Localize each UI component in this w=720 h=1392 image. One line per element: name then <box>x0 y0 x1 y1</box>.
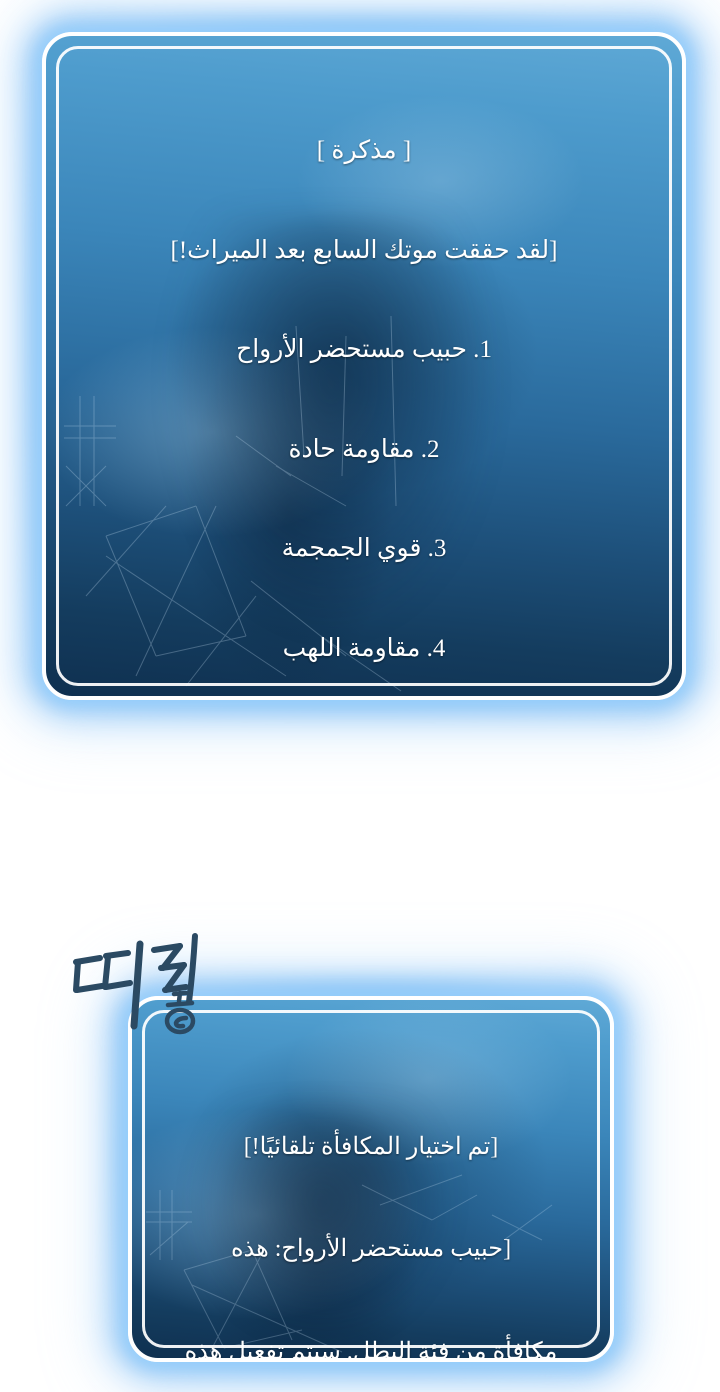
panel2-body-line-2: مكافأة من فئة البطل. سيتم تفعيل هذه <box>158 1335 584 1362</box>
panel1-list-item-3: 3. قوي الجمجمة <box>80 533 648 566</box>
status-notification-panel[interactable]: [ مذكرة ] [لقد حققت موتك السابع بعد المي… <box>42 32 686 700</box>
panel2-body-line-1: [حبيب مستحضر الأرواح: هذه <box>158 1232 584 1266</box>
panel1-list-item-1: 1. حبيب مستحضر الأرواح <box>80 334 648 367</box>
panel1-heading: [ مذكرة ] <box>80 135 648 168</box>
reward-notification-panel[interactable]: [تم اختيار المكافأة تلقائيًا!] [حبيب مست… <box>128 996 614 1362</box>
panel1-list-item-4: 4. مقاومة اللهب <box>80 633 648 666</box>
panel2-heading: [تم اختيار المكافأة تلقائيًا!] <box>158 1130 584 1164</box>
panel1-list-item-2: 2. مقاومة حادة <box>80 434 648 467</box>
panel1-text-block: [ مذكرة ] [لقد حققت موتك السابع بعد المي… <box>80 70 648 700</box>
panel2-text-block: [تم اختيار المكافأة تلقائيًا!] [حبيب مست… <box>158 1062 584 1362</box>
comic-page: [ مذكرة ] [لقد حققت موتك السابع بعد المي… <box>0 0 720 1392</box>
panel1-subheading: [لقد حققت موتك السابع بعد الميراث!] <box>80 235 648 268</box>
